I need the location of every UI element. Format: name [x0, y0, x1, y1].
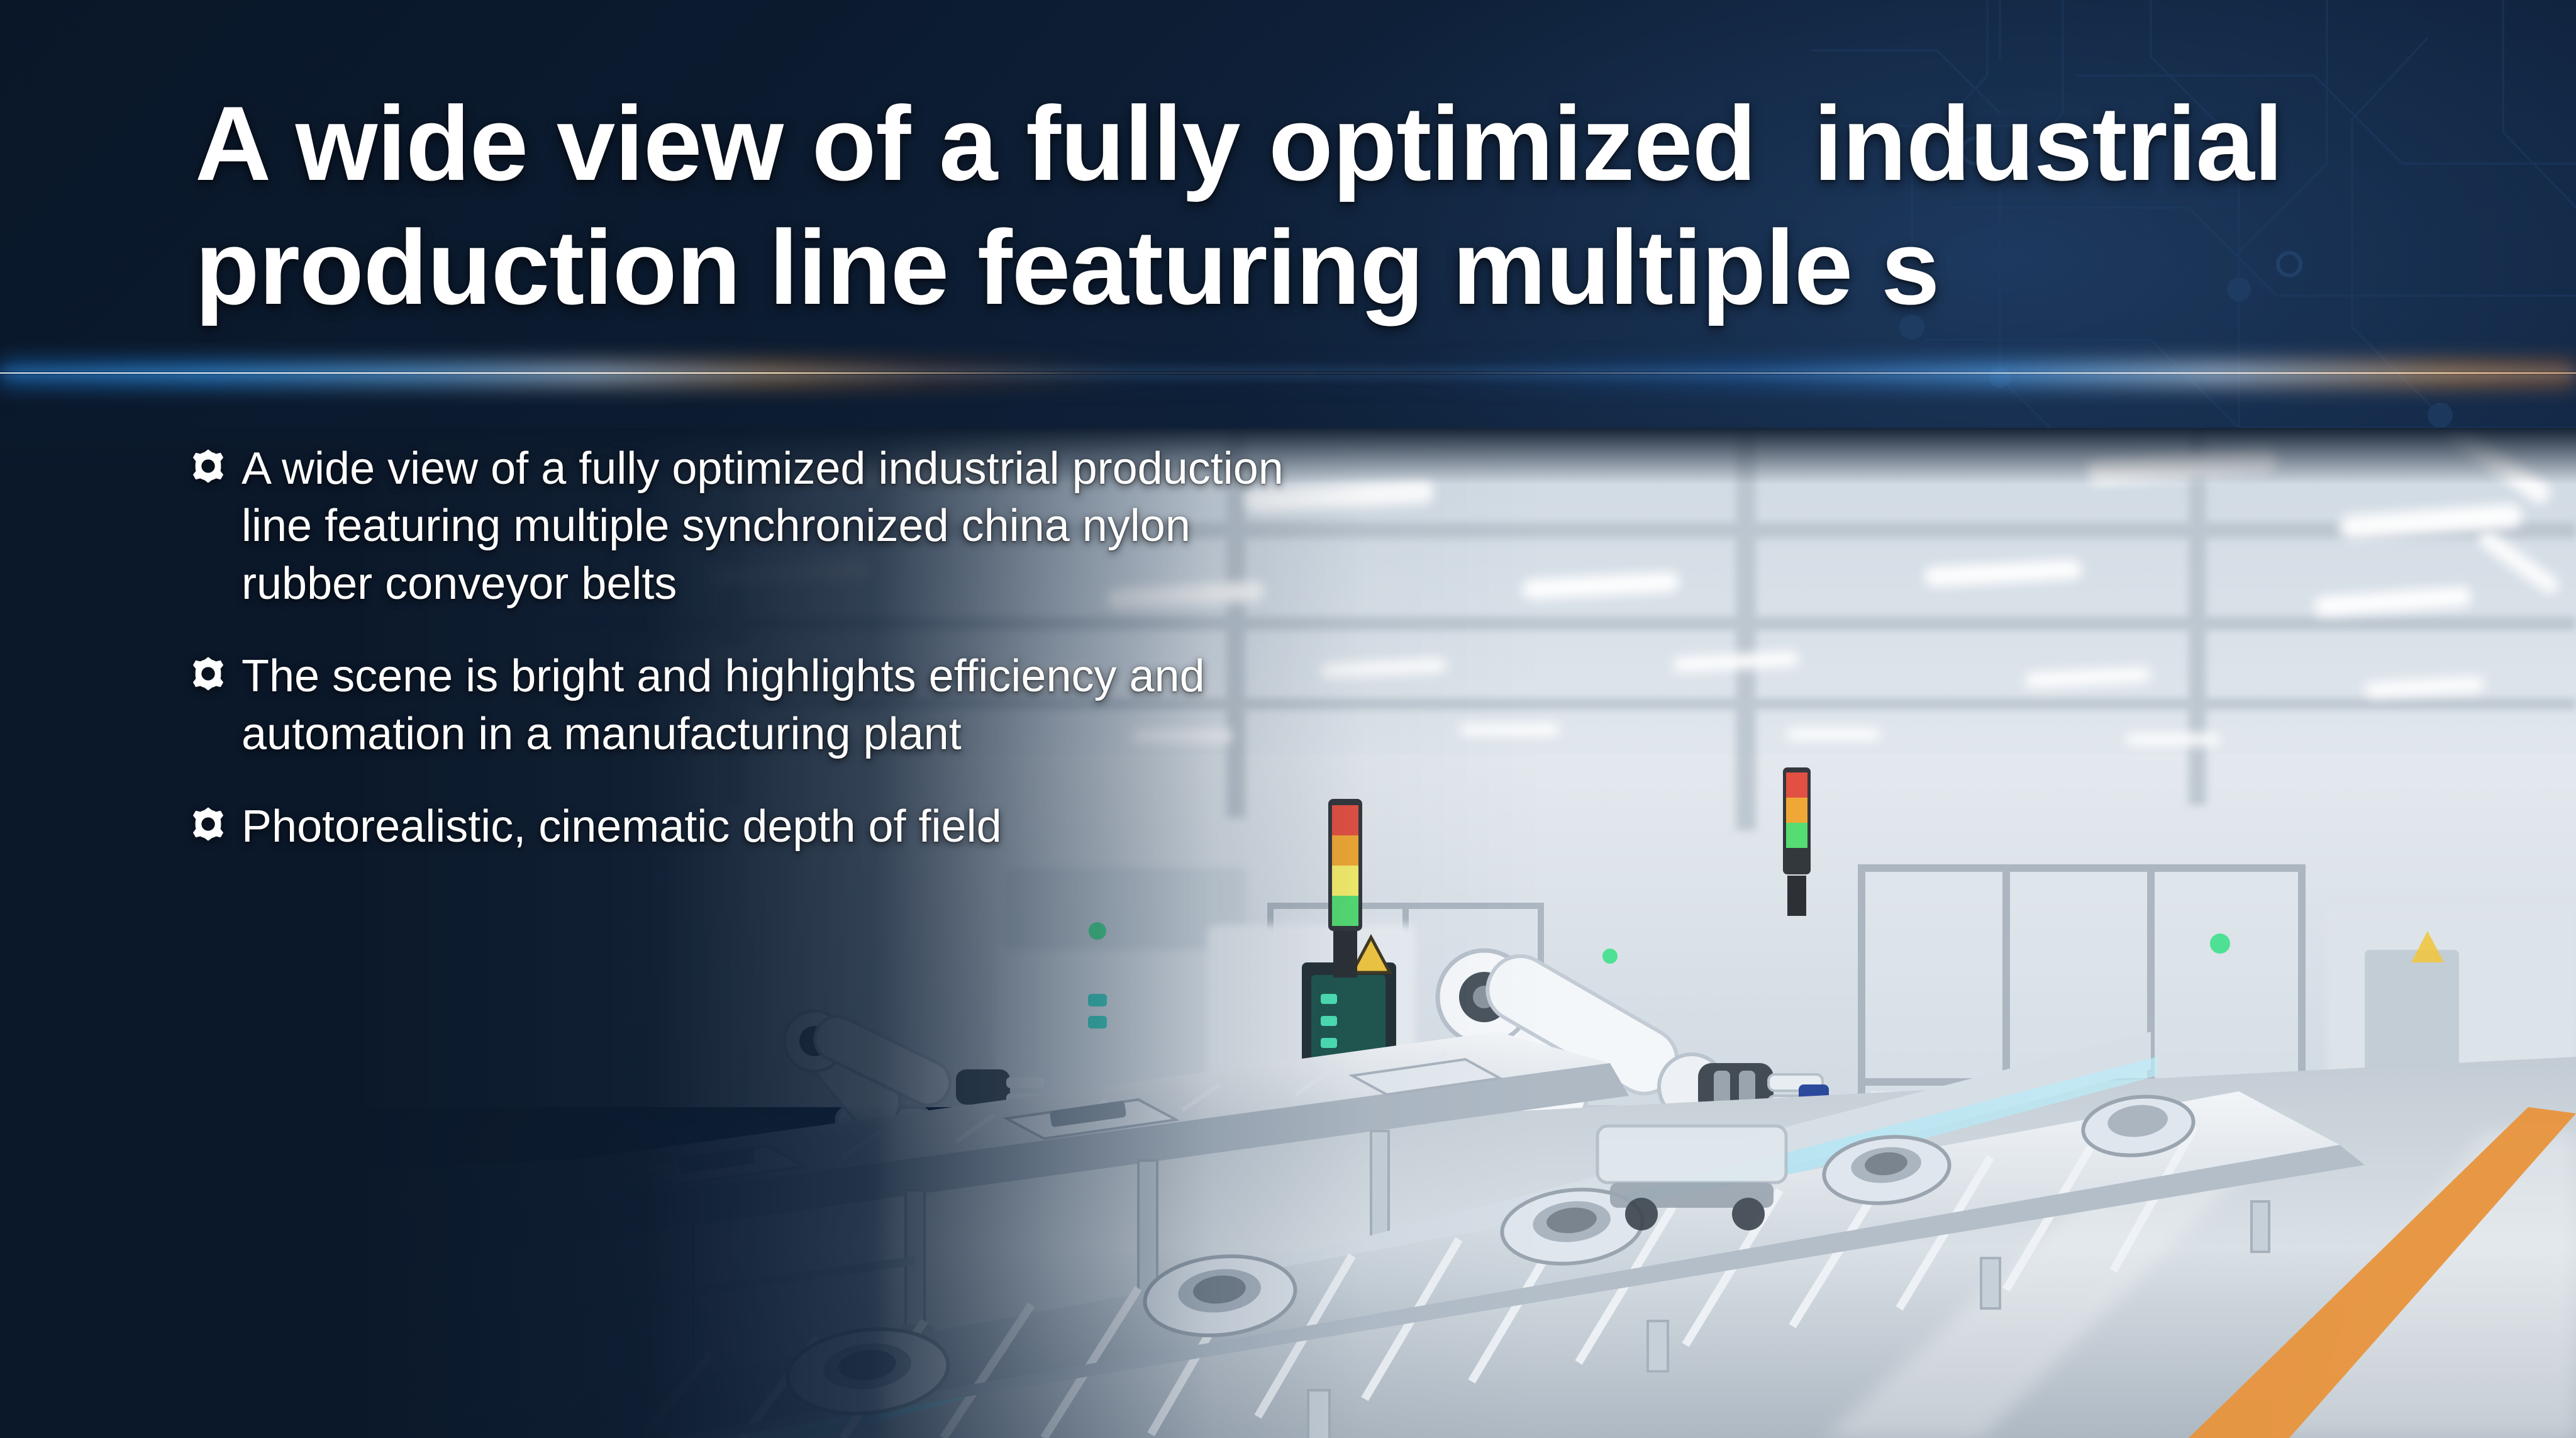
gear-icon: [189, 447, 228, 486]
page-title: A wide view of a fully optimized industr…: [195, 82, 2302, 329]
list-item-label: Photorealistic, cinematic depth of field: [241, 798, 1002, 856]
list-item-label: The scene is bright and highlights effic…: [241, 648, 1296, 763]
list-item-label: A wide view of a fully optimized industr…: [241, 440, 1296, 613]
list-item: The scene is bright and highlights effic…: [189, 648, 1296, 763]
gear-icon: [189, 805, 228, 844]
bullet-list: A wide view of a fully optimized industr…: [189, 440, 1296, 856]
slide-root: A wide view of a fully optimized industr…: [0, 0, 2576, 1438]
list-item: A wide view of a fully optimized industr…: [189, 440, 1296, 613]
list-item: Photorealistic, cinematic depth of field: [189, 798, 1296, 856]
gear-icon: [189, 654, 228, 693]
